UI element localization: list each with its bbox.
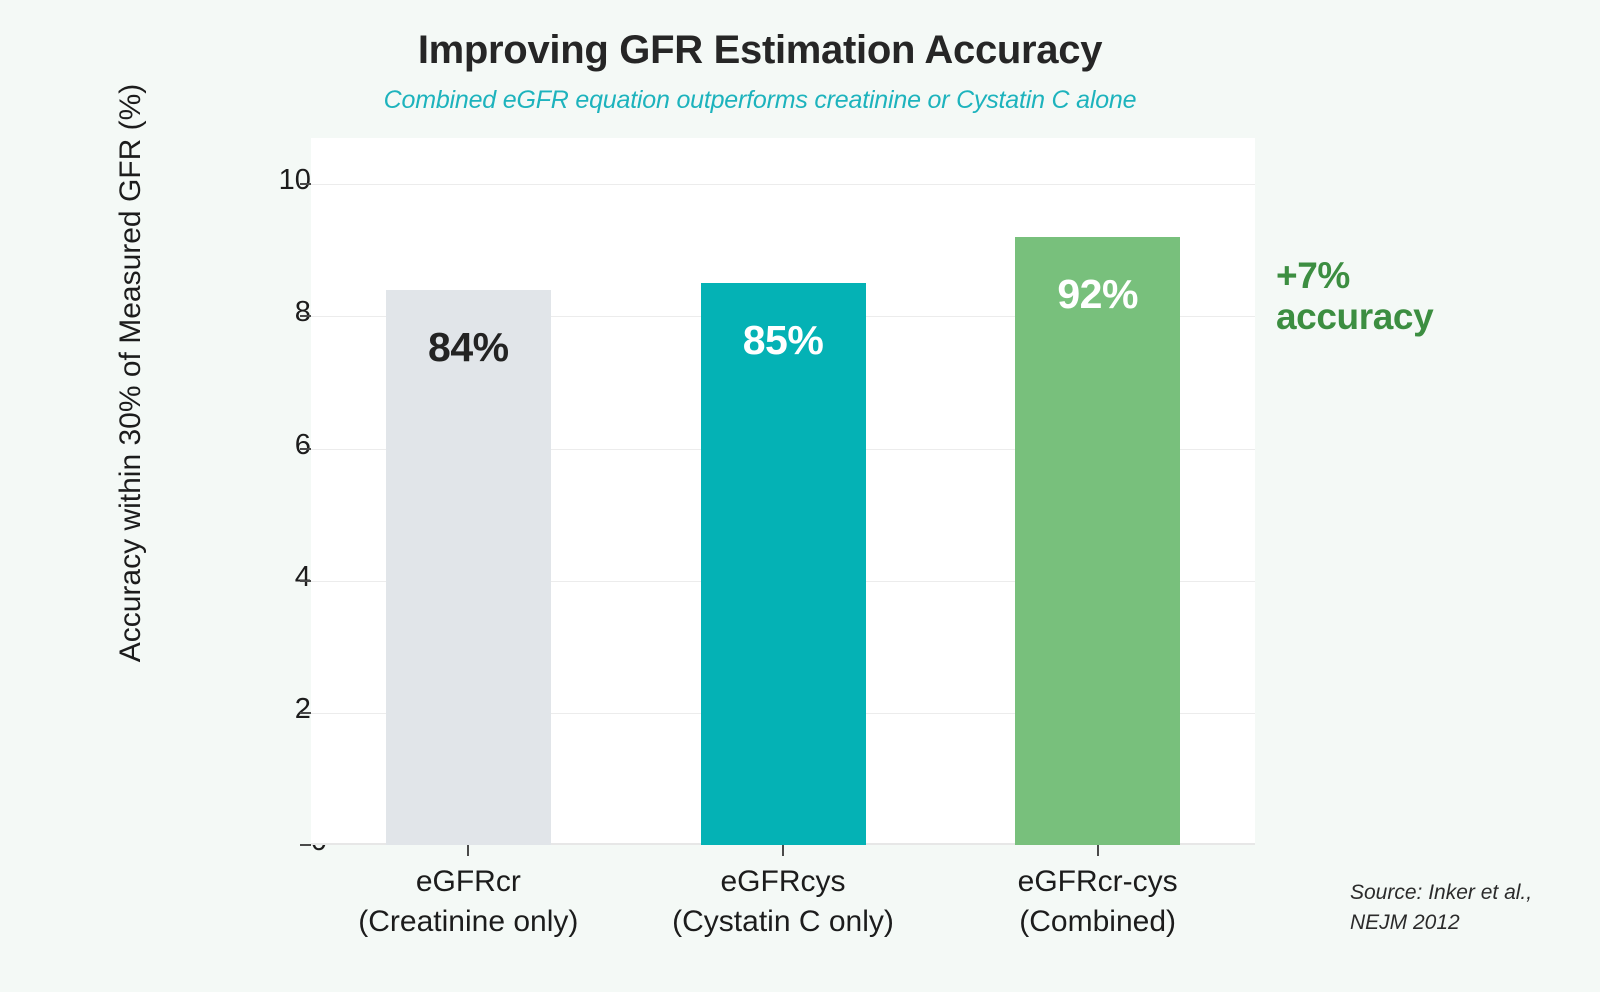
x-tick-mark-egfrcr-cys [1097,845,1099,856]
chart-title: Improving GFR Estimation Accuracy [0,28,1520,73]
bar-egfrcr-cys[interactable]: 92% [1015,237,1180,845]
y-tick-label-0: 0 [207,825,327,858]
bar-egfrcys[interactable]: 85% [701,283,866,845]
delta-accuracy-value: +7% [1276,255,1576,296]
delta-accuracy-label: accuracy [1276,296,1576,337]
y-tick-mark-20 [300,712,311,714]
source-note-line2: NEJM 2012 [1350,908,1600,938]
x-tick-mark-egfrcr [467,845,469,856]
delta-accuracy-annotation: +7% accuracy [1276,255,1576,338]
y-tick-mark-60 [300,448,311,450]
source-note-line1: Source: Inker et al., [1350,878,1600,908]
y-axis-title: Accuracy within 30% of Measured GFR (%) [114,8,148,738]
y-tick-mark-100 [300,183,311,185]
chart-subtitle: Combined eGFR equation outperforms creat… [0,86,1520,115]
x-tick-label-egfrcr-cys: eGFRcr-cys (Combined) [908,862,1288,941]
gridline-100 [311,184,1255,185]
plot-area: 84% 85% 92% [311,138,1255,845]
y-tick-label-80: 80 [207,296,327,329]
bar-egfrcr[interactable]: 84% [386,290,551,845]
y-tick-label-20: 20 [207,693,327,726]
y-tick-label-60: 60 [207,429,327,462]
x-tick-label-egfrcr-cys-line1: eGFRcr-cys [908,862,1288,902]
bar-value-egfrcr: 84% [386,324,551,371]
bar-value-egfrcys: 85% [701,317,866,364]
x-tick-mark-egfrcys [782,845,784,856]
y-tick-mark-80 [300,315,311,317]
y-tick-mark-40 [300,580,311,582]
bar-value-egfrcr-cys: 92% [1015,271,1180,318]
x-tick-label-egfrcr-cys-line2: (Combined) [908,902,1288,942]
y-tick-label-100: 100 [207,164,327,197]
source-note: Source: Inker et al., NEJM 2012 [1350,878,1600,938]
y-tick-mark-0 [300,844,311,846]
y-tick-label-40: 40 [207,561,327,594]
